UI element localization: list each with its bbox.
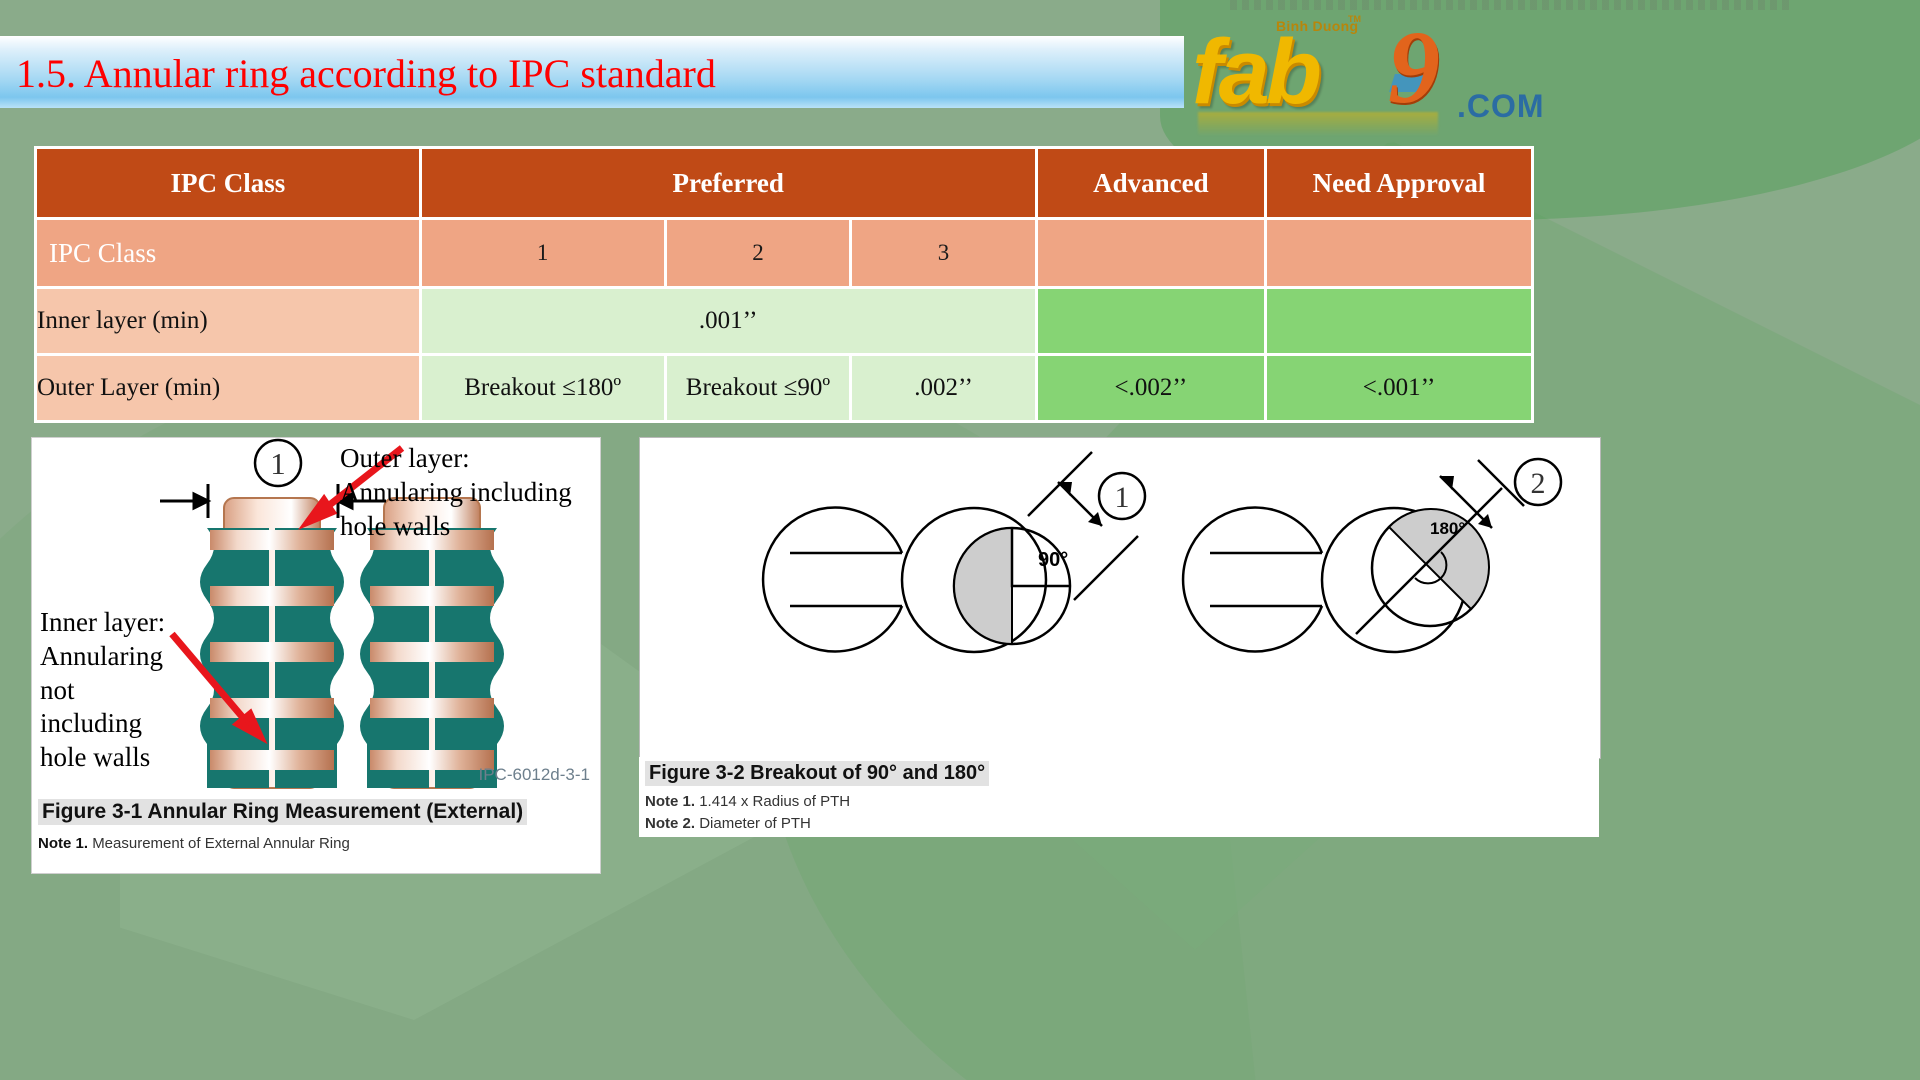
callout-badge-right-1: 1 [1099,473,1145,519]
breakout-180-group [1183,460,1524,652]
fab9-logo[interactable]: fab 9 Binh Duong TM .COM [1192,14,1532,130]
cell-inner-layer-preferred: .001’’ [422,289,1035,353]
figure-3-2-caption: Figure 3-2 Breakout of 90° and 180° Note… [639,757,1599,837]
figure-3-2-note-2-text: Diameter of PTH [699,815,811,832]
figure-3-1: 1 Outer layer: Annularing including hole… [31,437,601,874]
angle-label-90: 90° [1038,549,1068,571]
header-cell-advanced: Advanced [1038,149,1264,217]
ipc-class-table: IPC Class Preferred Advanced Need Approv… [34,146,1534,423]
annotation-outer-layer: Outer layer: Annularing including hole w… [340,442,590,543]
figure-3-1-note-label: Note 1. [38,835,88,852]
header-cell-need-approval: Need Approval [1267,149,1531,217]
figure-3-2-note-1: Note 1. 1.414 x Radius of PTH [645,793,850,810]
cell-class-2: 2 [667,220,850,286]
figure-3-2-caption-title: Figure 3-2 Breakout of 90° and 180° [645,761,989,786]
barrel-left [200,498,344,788]
logo-wordmark: fab [1192,26,1318,118]
cell-outer-breakout-90: Breakout ≤90º [667,356,850,420]
breakout-diagram-svg: 90° 180° 1 2 [640,438,1600,758]
header-cell-ipc-class: IPC Class [37,149,419,217]
callout-badge-right-2: 2 [1515,459,1561,505]
cell-class-advanced [1038,220,1264,286]
logo-tagline: Binh Duong [1276,18,1358,34]
cell-outer-breakout-180: Breakout ≤180º [422,356,664,420]
table-row-inner-layer: Inner layer (min) .001’’ [37,289,1531,353]
page-title: 1.5. Annular ring according to IPC stand… [16,44,1176,104]
table-row-outer-layer: Outer Layer (min) Breakout ≤180º Breakou… [37,356,1531,420]
trademark-icon: TM [1348,14,1361,24]
cell-outer-002: .002’’ [852,356,1034,420]
figure-3-2-note-1-text: 1.414 x Radius of PTH [699,793,850,810]
cell-inner-layer-label: Inner layer (min) [37,289,419,353]
figure-3-1-drawing: 1 Outer layer: Annularing including hole… [32,438,600,790]
figure-3-2-note-1-label: Note 1. [645,793,695,810]
callout-badge-1: 1 [255,440,301,486]
cell-class-label: IPC Class [37,220,419,286]
figure-3-2-note-2: Note 2. Diameter of PTH [645,815,811,832]
figure-3-2-note-2-label: Note 2. [645,815,695,832]
svg-text:1: 1 [270,446,286,481]
figure-3-1-note: Note 1. Measurement of External Annular … [38,835,350,852]
logo-nine-glyph: 9 [1388,16,1440,120]
cell-class-need-approval [1267,220,1531,286]
cell-class-3: 3 [852,220,1034,286]
logo-domain: .COM [1457,88,1545,125]
figure-3-1-caption: Figure 3-1 Annular Ring Measurement (Ext… [32,793,600,873]
top-edge-strip [1230,0,1790,10]
table-header-row: IPC Class Preferred Advanced Need Approv… [37,149,1531,217]
ipc-source-reference: IPC-6012d-3-1 [478,765,590,785]
cell-outer-advanced: <.002’’ [1038,356,1264,420]
annotation-inner-layer: Inner layer: Annularing not including ho… [40,606,170,775]
cell-outer-need-approval: <.001’’ [1267,356,1531,420]
figure-3-1-note-text: Measurement of External Annular Ring [92,835,350,852]
table-row-class-numbers: IPC Class 1 2 3 [37,220,1531,286]
cell-class-1: 1 [422,220,664,286]
cell-outer-layer-label: Outer Layer (min) [37,356,419,420]
angle-label-180: 180° [1430,519,1465,538]
svg-text:1: 1 [1115,481,1130,514]
header-cell-preferred: Preferred [422,149,1035,217]
breakout-90-group [763,452,1138,652]
cell-inner-layer-need-approval [1267,289,1531,353]
figure-3-1-caption-title: Figure 3-1 Annular Ring Measurement (Ext… [38,799,527,825]
cell-inner-layer-advanced [1038,289,1264,353]
svg-text:2: 2 [1531,467,1546,500]
figure-3-2: 90° 180° 1 2 [639,437,1601,759]
